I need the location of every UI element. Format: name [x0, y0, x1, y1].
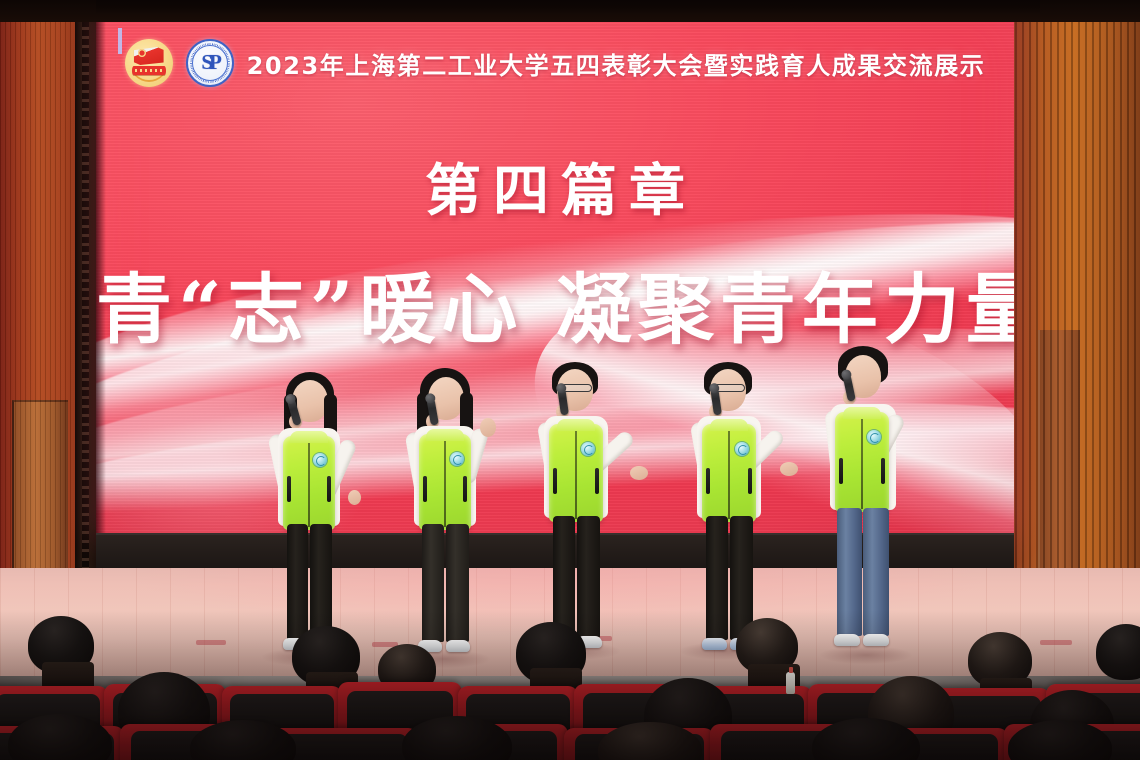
led-header-row: SP 2023年上海第二工业大学五四表彰大会暨实践育人成果交流展示: [96, 40, 1014, 86]
stage-performance-photo: SP 2023年上海第二工业大学五四表彰大会暨实践育人成果交流展示 第四篇章 青…: [0, 0, 1140, 760]
vest-volunteer-logo-icon: [581, 442, 595, 456]
communist-youth-league-emblem-icon: [125, 39, 173, 87]
volunteer-vest: [835, 412, 889, 512]
volunteer-vest: [283, 436, 335, 530]
vest-volunteer-logo-icon: [313, 453, 327, 467]
volunteer-vest: [419, 434, 471, 530]
ceiling-shadow: [96, 0, 1040, 14]
left-stage-truss: [75, 0, 97, 660]
volunteer-vest: [702, 424, 756, 522]
led-header-title: 2023年上海第二工业大学五四表彰大会暨实践育人成果交流展示: [247, 46, 986, 81]
led-chapter-title: 第四篇章: [96, 146, 1014, 227]
sspu-seal-letters: SP: [188, 41, 232, 85]
performer-hand: [348, 490, 361, 505]
performer-hand: [630, 466, 648, 480]
led-slogan-text: 青“志”暖心 凝聚青年力量: [96, 248, 1014, 358]
audience-head: [1096, 624, 1140, 680]
performer-hand: [780, 462, 798, 476]
vest-volunteer-logo-icon: [735, 442, 749, 456]
vest-volunteer-logo-icon: [450, 452, 464, 466]
sspu-university-seal-icon: SP: [186, 39, 234, 87]
volunteer-vest: [549, 424, 603, 522]
vest-volunteer-logo-icon: [867, 430, 881, 444]
water-bottle: [786, 672, 795, 694]
performer-hand-raised: [480, 418, 496, 437]
audience-area: [0, 610, 1140, 760]
